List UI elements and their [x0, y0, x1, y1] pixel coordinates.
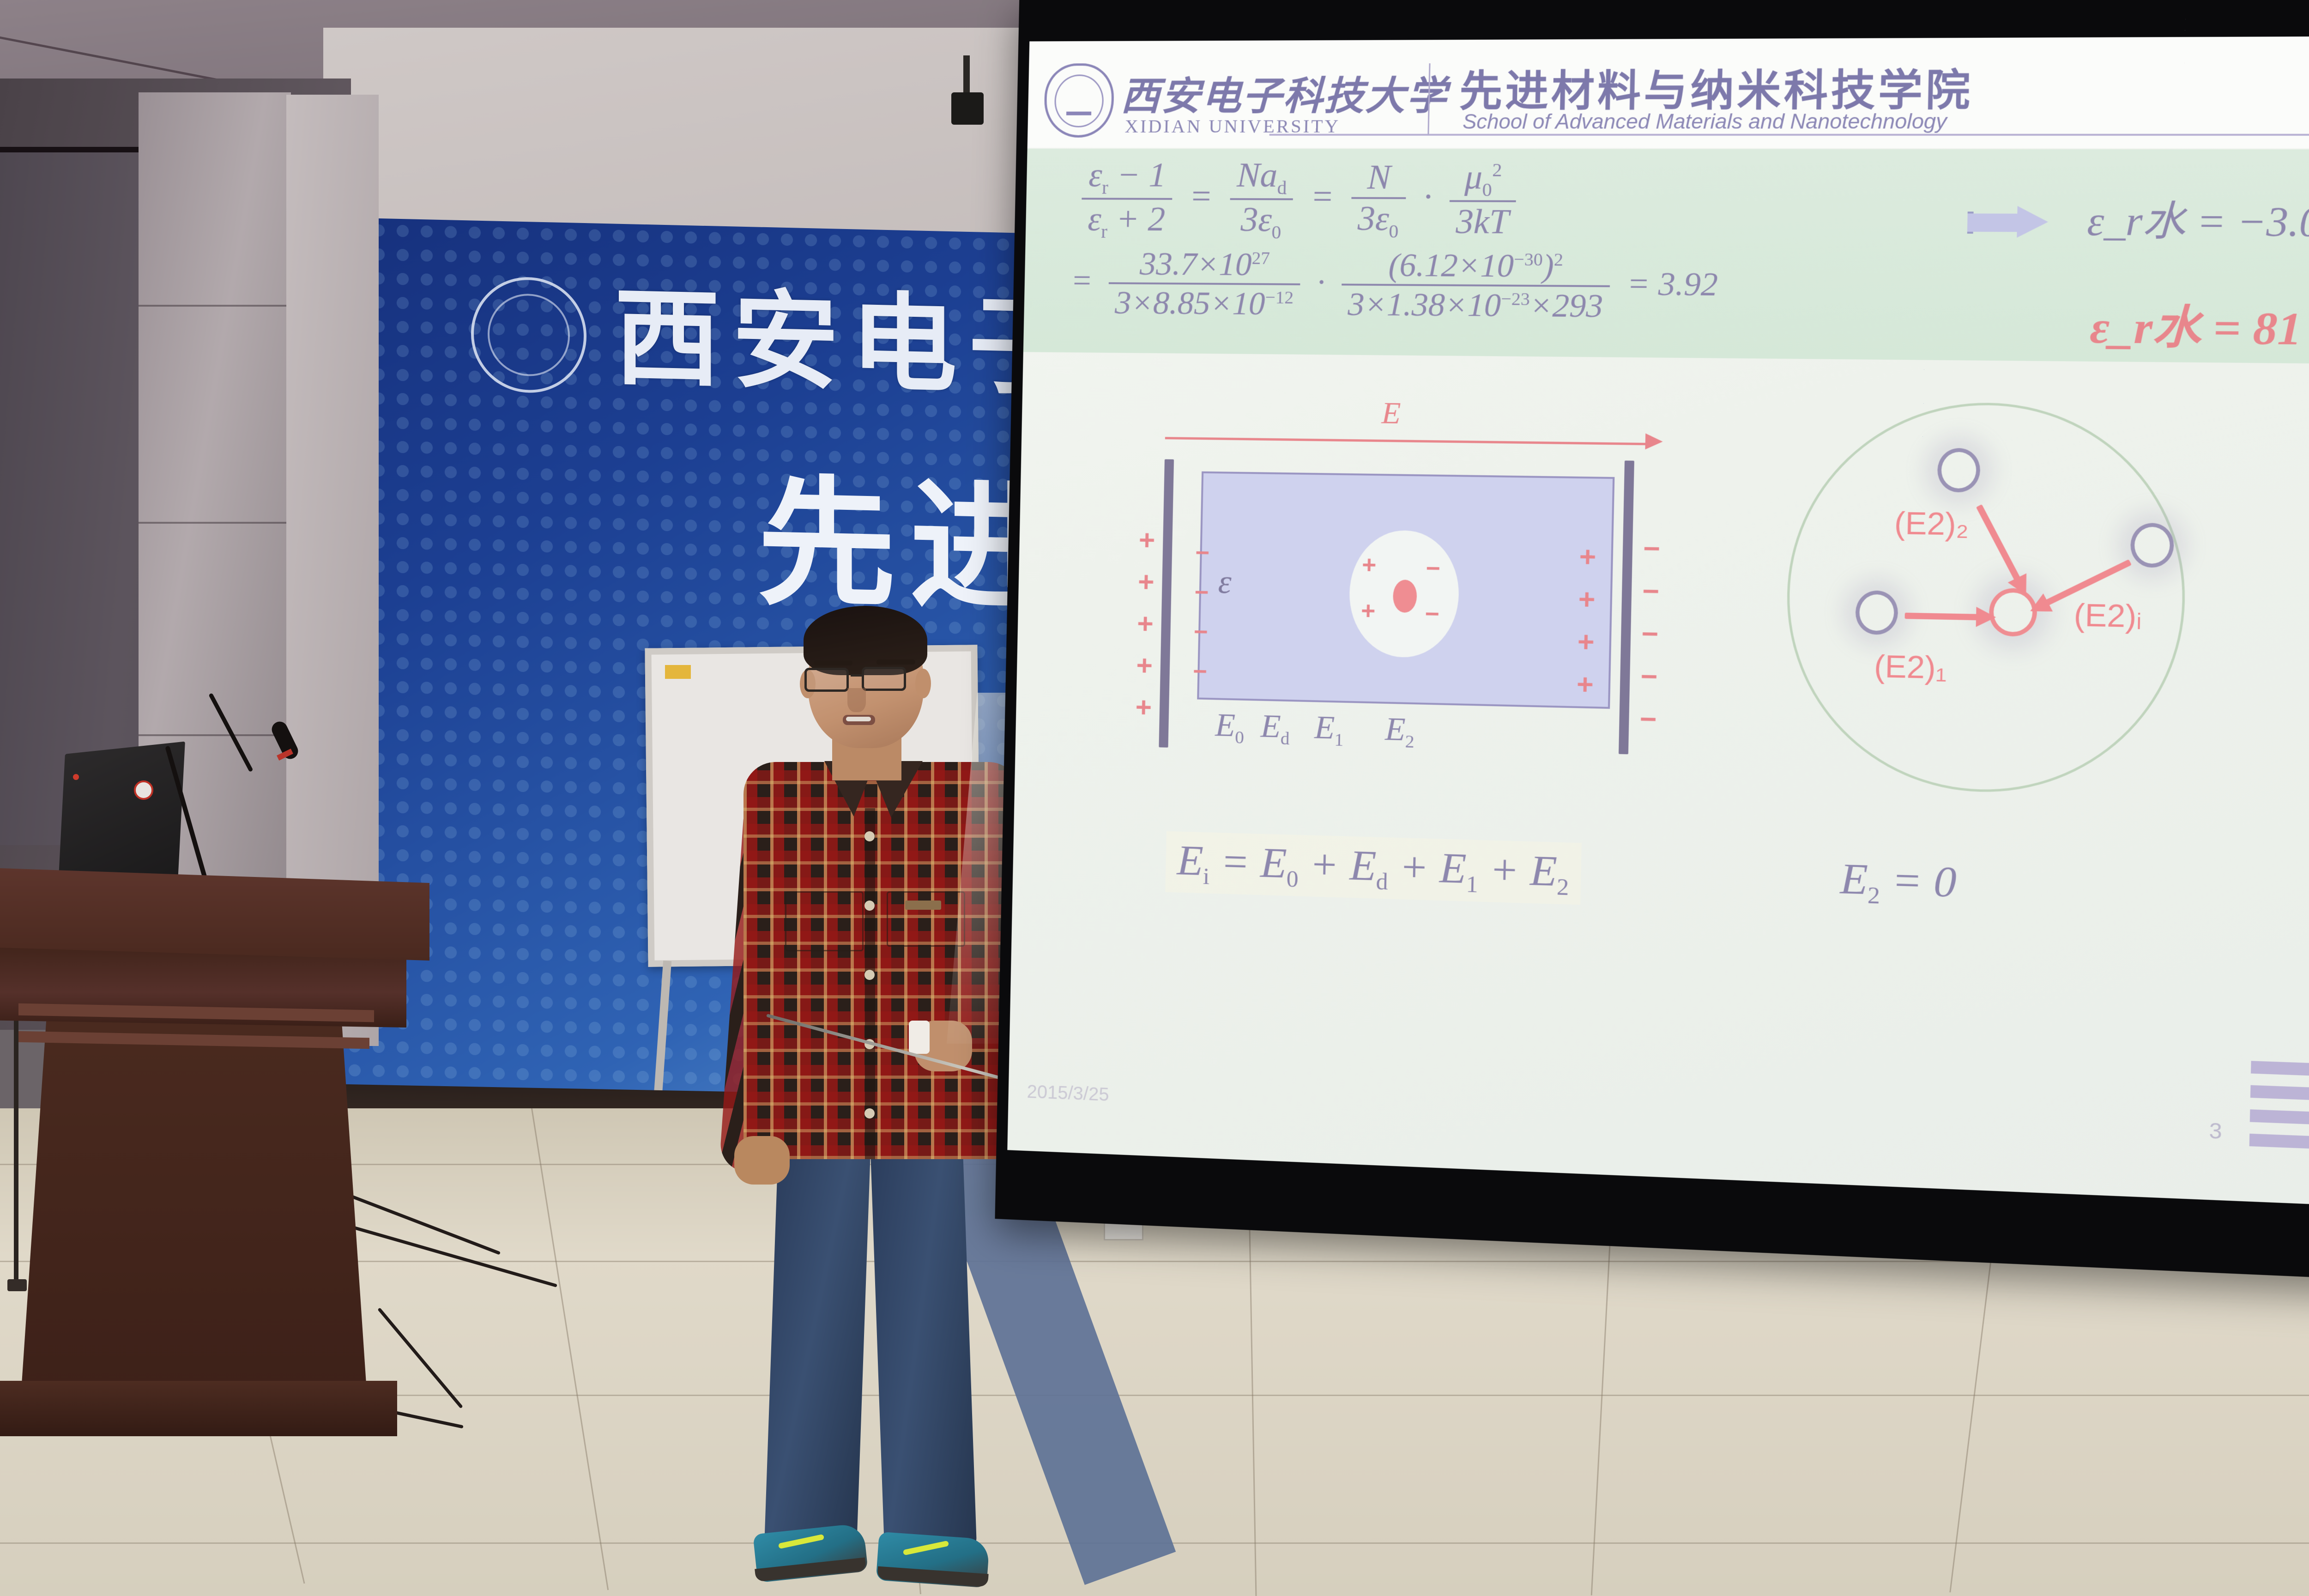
bound-charge-neg-4: −	[1193, 658, 1208, 686]
result-computed: ε_r水 = −3.03	[2086, 187, 2309, 248]
field-arrow-line	[1165, 437, 1649, 445]
shirt-button-3	[864, 970, 875, 980]
shirt-brand-tag	[905, 901, 941, 910]
plate-charge-pos-4: +	[1136, 649, 1153, 682]
label-E2-i: (E2)ᵢ	[2073, 597, 2142, 635]
plate-charge-pos-3: +	[1137, 607, 1154, 640]
lorentz-sphere-diagram: (E2)₂ (E2)₁ (E2)ᵢ	[1783, 401, 2189, 797]
projection-screen-assembly: 西安电子科技大学 XIDIAN UNIVERSITY 先进材料与纳米科技学院 S…	[994, 0, 2309, 1320]
plate-charge-neg-5: −	[1639, 702, 1657, 736]
slide-school-cn: 先进材料与纳米科技学院	[1459, 55, 1974, 118]
molecule-charge-neg-top: −	[1426, 554, 1441, 583]
plate-right	[1619, 460, 1634, 754]
shirt-pocket-left	[785, 891, 864, 951]
nose	[847, 688, 866, 712]
laptop-sticker	[134, 780, 153, 800]
shirt-button-2	[864, 901, 875, 911]
equation-line-2: = 33.7×10273×8.85×10−12 · (6.12×10−30)23…	[1070, 246, 1718, 326]
rail-cap-1	[7, 1279, 27, 1291]
field-label-E: E	[1381, 395, 1401, 431]
label-E2-2: (E2)₂	[1894, 505, 1969, 542]
lecture-hall-scene: 西安电子科技大 先进材 与 B	[0, 0, 2309, 1596]
field-arrow-head	[1645, 433, 1662, 449]
eyebrow-left	[814, 660, 852, 665]
bound-charge-neg-1: −	[1195, 539, 1210, 567]
field-component-labels: E0 Ed E1 E2	[1215, 707, 1415, 752]
slide-header-rule	[1269, 134, 2309, 136]
bound-charge-pos-3: +	[1577, 625, 1595, 658]
plate-charge-pos-1: +	[1138, 524, 1155, 556]
podium-body	[18, 1016, 369, 1432]
shirt-placket	[865, 808, 875, 1159]
presenter-legs	[767, 1145, 984, 1552]
bound-charge-neg-2: −	[1194, 578, 1209, 606]
bound-charge-pos-1: +	[1579, 540, 1596, 573]
projector-mount	[951, 92, 984, 125]
podium-base	[0, 1381, 397, 1436]
projected-slide: 西安电子科技大学 XIDIAN UNIVERSITY 先进材料与纳米科技学院 S…	[1007, 36, 2309, 1207]
hand-left	[734, 1136, 790, 1185]
shirt-pocket-right	[887, 891, 965, 947]
plate-charge-neg-1: −	[1643, 532, 1660, 565]
slide-page-number: 3	[2209, 1118, 2222, 1144]
shirt-button-1	[864, 831, 875, 841]
dielectric-epsilon-label: ε	[1218, 562, 1232, 601]
bound-charge-pos-2: +	[1578, 583, 1596, 616]
slide-decoration-bars	[2249, 1061, 2309, 1162]
slide-date-stamp: 2015/3/25	[1027, 1082, 1109, 1106]
plate-charge-pos-5: +	[1135, 691, 1152, 723]
slide-university-cn: 西安电子科技大学	[1120, 64, 1449, 121]
university-seal-icon	[1044, 63, 1114, 138]
capacitor-diagram: E ε + + + + + − − − − − − − −	[1145, 408, 1703, 775]
equation-sum: Ei = E0 + Ed + E1 + E2	[1165, 831, 1581, 905]
slide-school-en: School of Advanced Materials and Nanotec…	[1463, 110, 1947, 134]
laptop-lid	[58, 742, 185, 894]
equation-line-1: εr − 1εr + 2 = Nad3ε0 = N3ε0 · μ023kT	[1081, 156, 1517, 244]
whiteboard-sticker	[665, 665, 691, 679]
podium-desktop	[0, 868, 429, 961]
bound-charge-pos-4: +	[1576, 668, 1594, 701]
result-actual: ε_r水 = 81	[2089, 289, 2303, 358]
plate-charge-neg-3: −	[1641, 617, 1659, 650]
teeth	[846, 717, 871, 721]
equation-e2-zero: E2 = 0	[1840, 853, 1957, 912]
bound-charge-neg-3: −	[1193, 618, 1208, 646]
molecule-charge-neg-bottom: −	[1425, 600, 1440, 629]
plate-charge-pos-2: +	[1138, 566, 1155, 598]
right-arrow-icon	[1967, 206, 2053, 238]
molecule-charge-pos-top: +	[1362, 551, 1377, 579]
shirt-button-5	[864, 1108, 875, 1118]
slide-university-en: XIDIAN UNIVERSITY	[1124, 115, 1340, 137]
eyebrow-right	[876, 659, 915, 665]
plate-left	[1159, 459, 1174, 747]
molecule-charge-pos-bottom: +	[1361, 597, 1376, 625]
equation-band: εr − 1εr + 2 = Nad3ε0 = N3ε0 · μ023kT = …	[1023, 149, 2309, 364]
plate-charge-neg-4: −	[1640, 660, 1658, 693]
leg-left	[764, 1144, 871, 1553]
laptop-indicator-light	[73, 774, 79, 780]
label-E2-1: (E2)₁	[1874, 648, 1947, 686]
presentation-clicker[interactable]	[909, 1021, 930, 1054]
plate-charge-neg-2: −	[1642, 574, 1659, 607]
leg-right	[870, 1144, 977, 1553]
